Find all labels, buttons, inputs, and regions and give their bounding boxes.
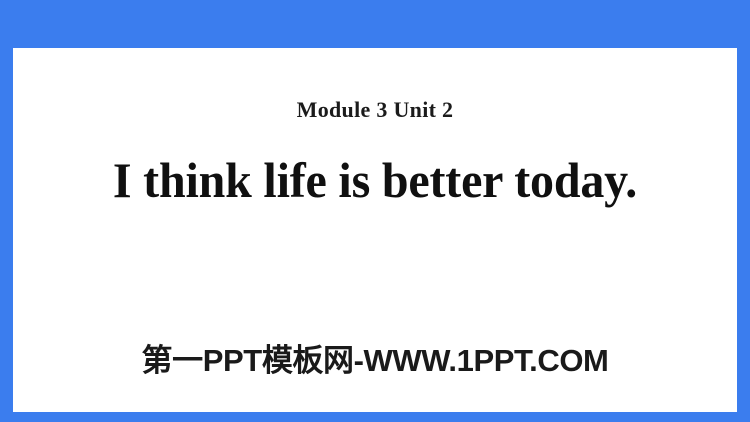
presentation-slide: Module 3 Unit 2 I think life is better t… <box>0 0 750 422</box>
frame-band-top <box>0 0 750 48</box>
slide-subtitle: Module 3 Unit 2 <box>13 97 737 123</box>
watermark-text: 第一PPT模板网-WWW.1PPT.COM <box>13 342 737 380</box>
frame-band-left <box>0 0 13 422</box>
slide-title: I think life is better today. <box>27 151 722 209</box>
slide-content-area: Module 3 Unit 2 I think life is better t… <box>13 48 737 412</box>
frame-band-right <box>737 0 750 422</box>
frame-band-bottom <box>0 412 750 422</box>
